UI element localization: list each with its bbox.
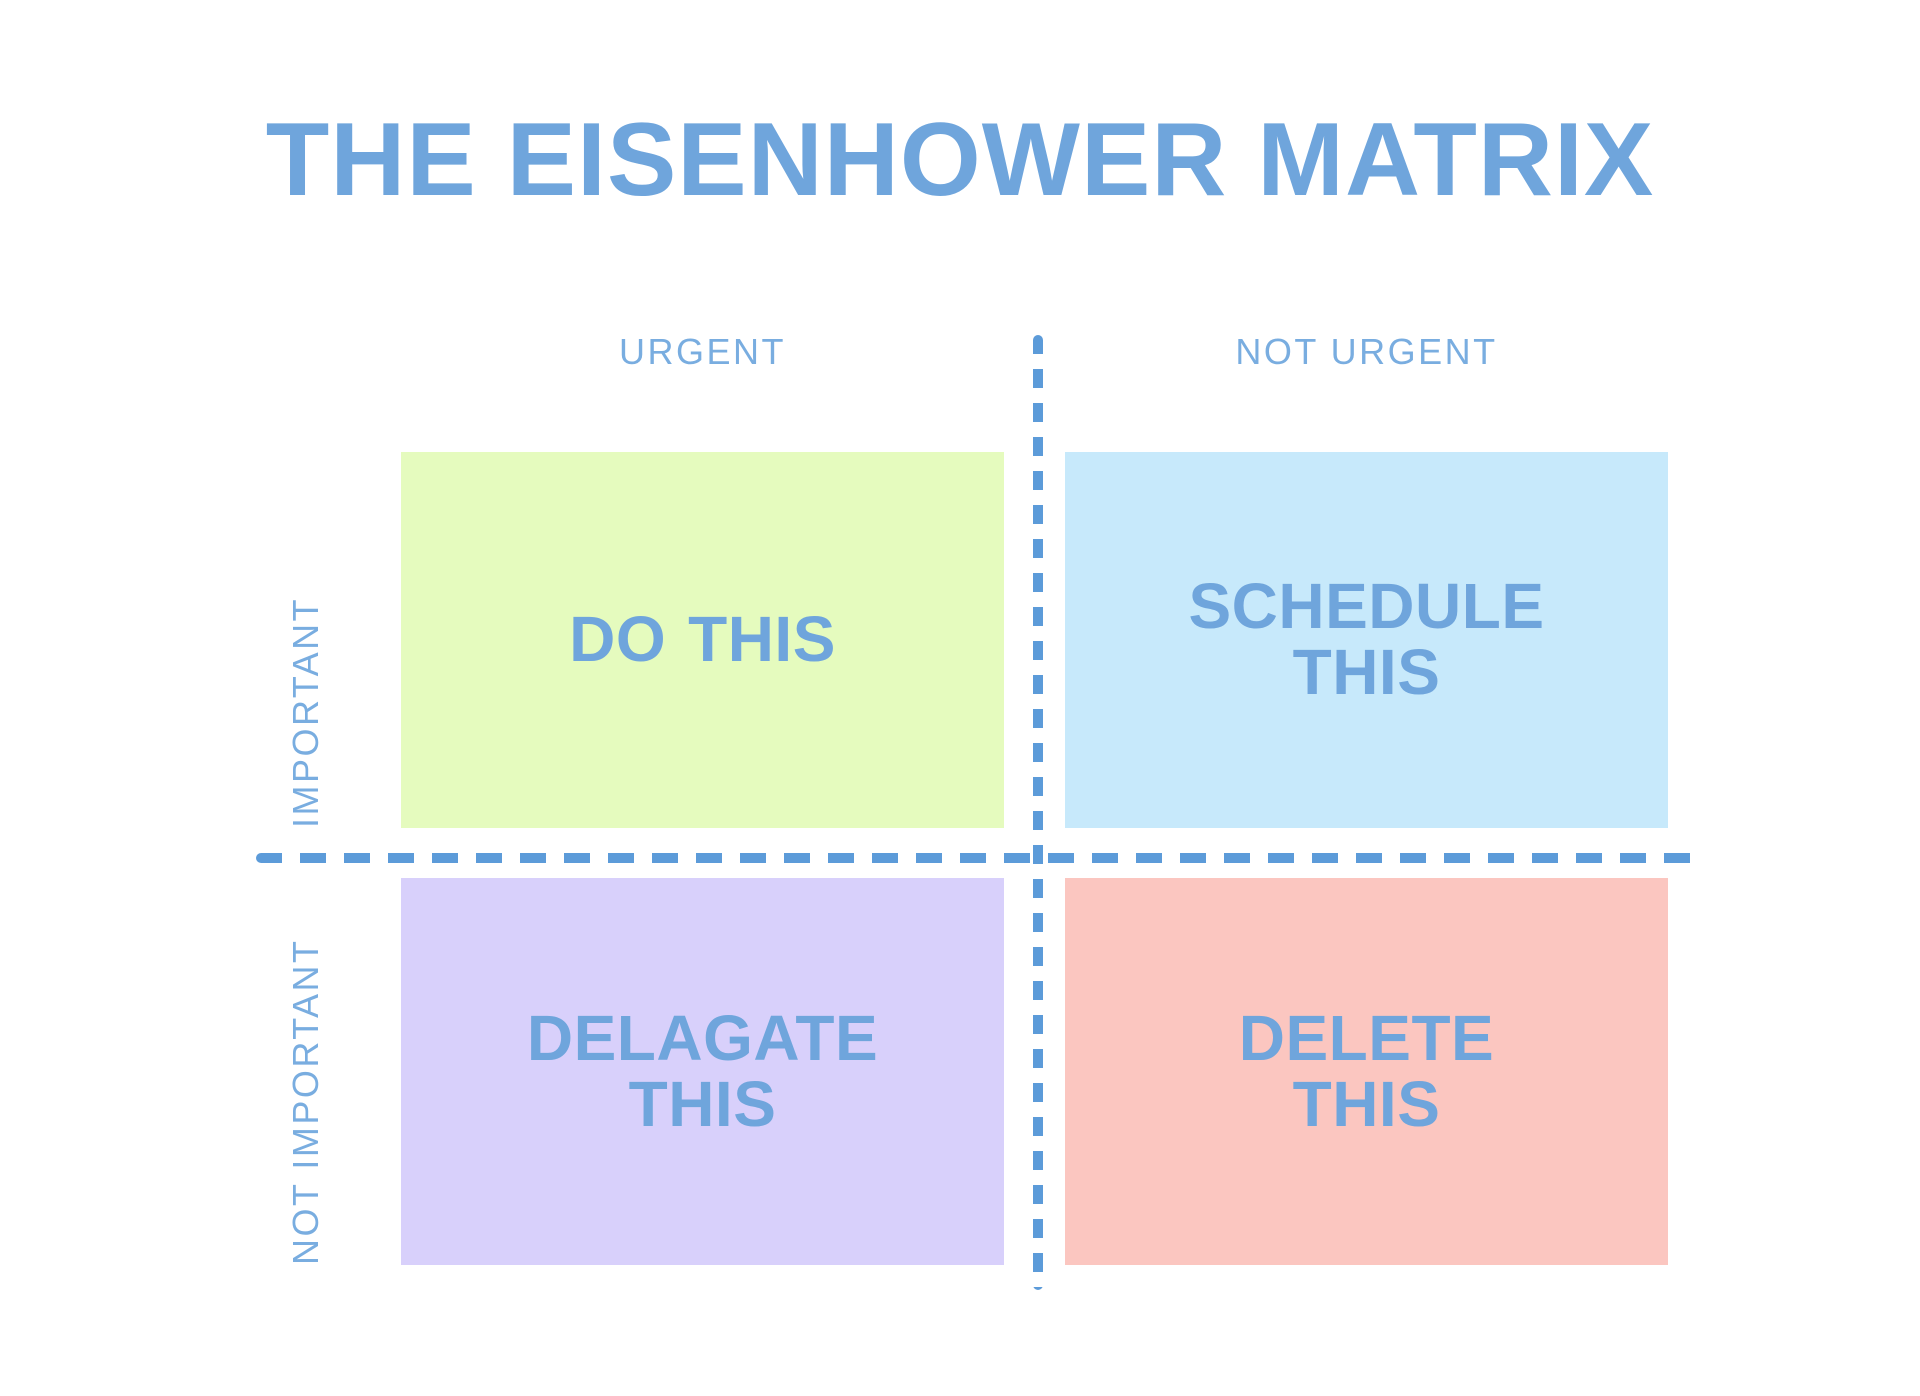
eisenhower-matrix-canvas: THE EISENHOWER MATRIX URGENT NOT URGENT … — [0, 0, 1920, 1396]
horizontal-dashed-divider — [256, 853, 1700, 863]
quadrant-schedule-line2: THIS — [1188, 640, 1544, 706]
row-header-not-important-label: NOT IMPORTANT — [288, 938, 324, 1265]
quadrant-delete-label: DELETE THIS — [1229, 1006, 1504, 1138]
quadrant-do-label: DOTHIS — [559, 607, 846, 673]
quadrant-delete-line2: THIS — [1239, 1072, 1494, 1138]
quadrant-do[interactable]: DOTHIS — [401, 452, 1004, 828]
column-header-urgent: URGENT — [401, 334, 1004, 370]
row-header-important-label: IMPORTANT — [288, 597, 324, 828]
quadrant-schedule-label: SCHEDULE THIS — [1178, 574, 1554, 706]
quadrant-delegate[interactable]: DELAGATE THIS — [401, 878, 1004, 1265]
quadrant-schedule[interactable]: SCHEDULE THIS — [1065, 452, 1668, 828]
quadrant-do-line2: THIS — [688, 603, 836, 675]
quadrant-delegate-line1: DELAGATE — [527, 1002, 878, 1074]
quadrant-delete[interactable]: DELETE THIS — [1065, 878, 1668, 1265]
quadrant-delegate-label: DELAGATE THIS — [517, 1006, 888, 1138]
quadrant-do-line1: DO — [569, 603, 666, 675]
column-header-not-urgent: NOT URGENT — [1065, 334, 1668, 370]
quadrant-delete-line1: DELETE — [1239, 1002, 1494, 1074]
quadrant-delegate-line2: THIS — [527, 1072, 878, 1138]
quadrant-schedule-line1: SCHEDULE — [1188, 570, 1544, 642]
page-title: THE EISENHOWER MATRIX — [0, 108, 1920, 212]
vertical-dashed-divider — [1033, 335, 1043, 1290]
